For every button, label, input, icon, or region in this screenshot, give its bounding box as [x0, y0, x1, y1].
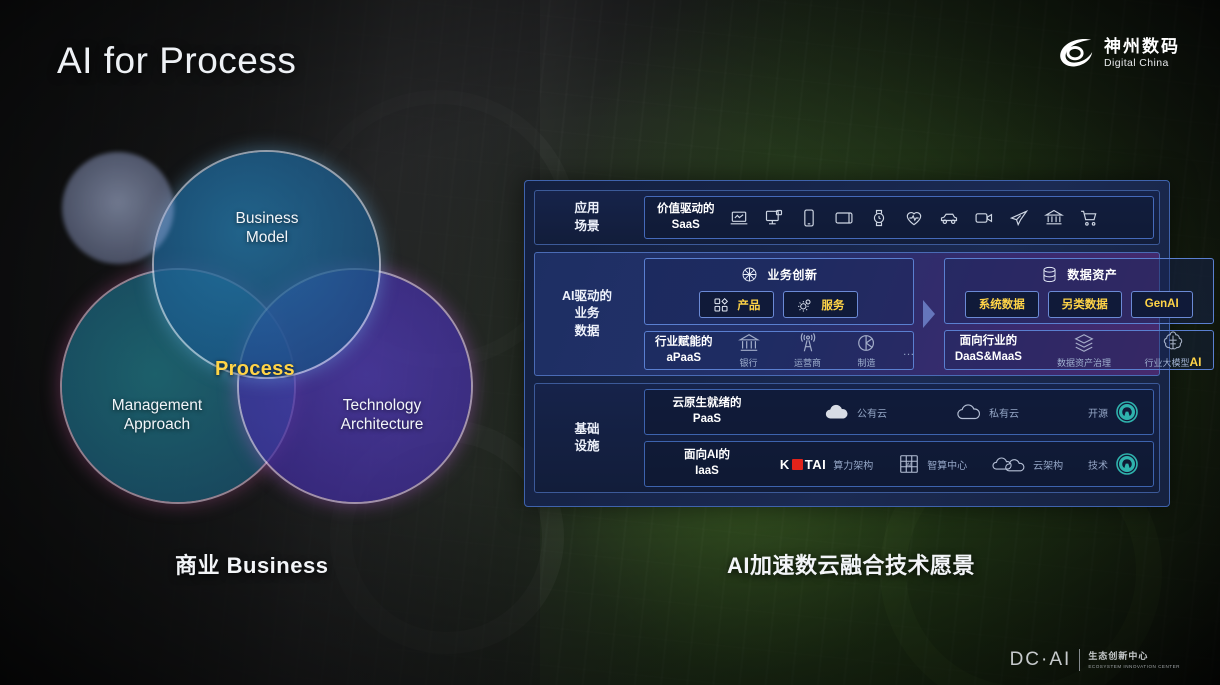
mini-data-governance: 数据资产治理 — [1048, 332, 1120, 369]
chip-genai[interactable]: GenAI — [1131, 291, 1193, 318]
apaas-block: 行业赋能的 aPaaS 银行 运营商 制造 — [644, 331, 914, 370]
venn-label-technology-architecture: Technology Architecture — [307, 397, 457, 435]
footer-logo-en: ECOSYSTEM INNOVATION CENTER — [1088, 664, 1180, 669]
mini-industry-llm: 行业大模型AI — [1133, 331, 1213, 369]
lead-industry-apaas: 行业赋能的 aPaaS — [655, 335, 713, 366]
footer-logo: DC·AI 生态创新中心 ECOSYSTEM INNOVATION CENTER — [1010, 649, 1180, 671]
caption-business: 商业 Business — [175, 548, 328, 580]
application-scenarios-cell: 价值驱动的 SaaS — [644, 196, 1154, 239]
bank-building-icon — [738, 332, 760, 354]
mini-bank: 银行 — [726, 332, 772, 369]
venn-diagram: Business Model Management Approach Techn… — [62, 152, 454, 502]
item-technology: 技术 — [1088, 452, 1139, 476]
footer-logo-cn: 生态创新中心 — [1088, 651, 1180, 661]
airplane-icon — [1009, 208, 1029, 228]
band-ai-driven-business-data: AI驱动的 业务 数据 业务创新 — [534, 252, 1160, 376]
band-infrastructure: 基础 设施 云原生就绪的 PaaS 公有云 — [534, 383, 1160, 493]
venn-label-process: Process — [199, 358, 311, 381]
business-innovation-title: 业务创新 — [767, 266, 817, 283]
data-assets-title: 数据资产 — [1067, 266, 1117, 283]
item-kuitai-compute: KTAI 算力架构 — [780, 457, 873, 472]
cluster-sphere-icon — [740, 265, 759, 284]
chip-product[interactable]: 产品 — [699, 291, 774, 318]
smartwatch-icon — [869, 208, 889, 228]
car-icon — [939, 208, 959, 228]
venn-core-overlap — [62, 152, 174, 264]
business-innovation-column: 业务创新 产品 — [644, 258, 914, 370]
item-ai-datacenter: AI 智算中心 — [898, 453, 967, 475]
application-icon-row — [729, 208, 1142, 228]
item-public-cloud: 公有云 — [824, 403, 887, 421]
heartbeat-icon — [904, 208, 924, 228]
blocks-icon — [713, 297, 729, 313]
business-innovation-block: 业务创新 产品 — [644, 258, 914, 325]
data-assets-block: 数据资产 系统数据 另类数据 GenAI — [944, 258, 1214, 324]
tablet-icon — [834, 208, 854, 228]
band-label-infrastructure: 基础 设施 — [535, 384, 639, 492]
brand-logo: 神州数码 Digital China — [1057, 36, 1180, 70]
ai-datacenter-icon: AI — [898, 453, 920, 475]
item-cloud-architecture: 云架构 — [992, 455, 1063, 473]
band-label-ai-driven: AI驱动的 业务 数据 — [535, 253, 639, 375]
digital-china-swirl-icon — [1057, 36, 1095, 70]
iaas-row: 面向AI的 IaaS KTAI 算力架构 AI — [644, 441, 1154, 487]
svg-text:AI: AI — [907, 462, 913, 468]
caption-diagram: AI加速数云融合技术愿景 — [727, 548, 975, 580]
lead-value-driven-saas: 价值驱动的 SaaS — [657, 202, 715, 233]
flow-arrow-icon — [921, 258, 937, 370]
lead-industry-daas-maas: 面向行业的 DaaS&MaaS — [955, 334, 1022, 365]
multi-cloud-icon — [992, 455, 1026, 473]
gears-icon — [797, 297, 813, 313]
item-private-cloud: 私有云 — [956, 403, 1019, 421]
filled-cloud-icon — [824, 403, 850, 421]
mini-telecom: 运营商 — [785, 332, 831, 369]
antenna-tower-icon — [797, 332, 819, 354]
outline-cloud-icon — [956, 403, 982, 421]
page-title: AI for Process — [57, 40, 296, 82]
laptop-chart-icon — [729, 208, 749, 228]
paas-row: 云原生就绪的 PaaS 公有云 私有云 — [644, 389, 1154, 435]
footer-logo-main: DC·AI — [1010, 649, 1072, 671]
item-opensource: 开源 — [1088, 400, 1139, 424]
chip-service[interactable]: 服务 — [783, 291, 858, 318]
chip-system-data[interactable]: 系统数据 — [965, 291, 1039, 318]
brain-network-icon — [1162, 331, 1184, 353]
data-assets-column: 数据资产 系统数据 另类数据 GenAI — [944, 258, 1214, 370]
venn-circle-business — [154, 152, 379, 377]
venn-label-business-model: Business Model — [212, 210, 322, 248]
daas-maas-block: 面向行业的 DaaS&MaaS 数据资产治理 行业大模型AI — [944, 330, 1214, 370]
bank-icon — [1044, 208, 1064, 228]
mini-manufacturing: 制造 — [844, 332, 890, 369]
slide-root: AI for Process 神州数码 Digital China Busine… — [0, 0, 1220, 685]
video-camera-icon — [974, 208, 994, 228]
factory-gear-icon — [856, 332, 878, 354]
venn-label-management-approach: Management Approach — [82, 397, 232, 435]
kuitai-red-block-icon — [792, 459, 803, 470]
kuitai-logo: KTAI — [780, 457, 826, 472]
desktop-monitor-icon — [764, 208, 784, 228]
chip-alternative-data[interactable]: 另类数据 — [1048, 291, 1122, 318]
brand-name-cn: 神州数码 — [1104, 38, 1180, 55]
opensource-circle-icon — [1115, 400, 1139, 424]
smartphone-icon — [799, 208, 819, 228]
data-layers-icon — [1073, 332, 1095, 354]
band-label-application: 应用 场景 — [535, 191, 639, 244]
database-icon — [1040, 265, 1059, 284]
opensource-circle-icon — [1115, 452, 1139, 476]
shopping-cart-icon — [1079, 208, 1099, 228]
brand-name-en: Digital China — [1104, 58, 1180, 69]
more-dots: … — [903, 344, 916, 358]
architecture-panel: 应用 场景 价值驱动的 SaaS — [524, 180, 1170, 507]
band-application-scenarios: 应用 场景 价值驱动的 SaaS — [534, 190, 1160, 245]
lead-cloud-native-paas: 云原生就绪的 PaaS — [659, 396, 755, 427]
lead-ai-iaas: 面向AI的 IaaS — [659, 448, 755, 479]
footer-logo-divider — [1079, 649, 1080, 671]
